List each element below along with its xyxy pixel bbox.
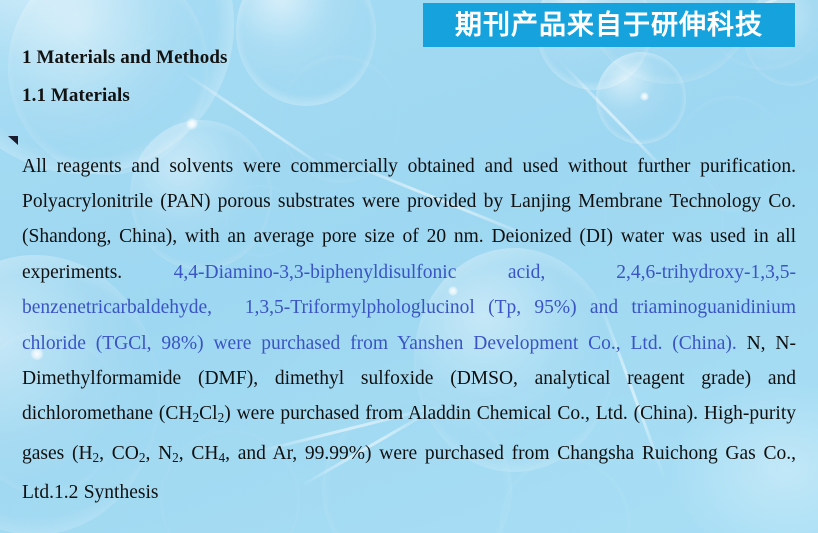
paragraph-run: Cl (199, 403, 217, 424)
watermark-banner: 期刊产品来自于研伸科技 (423, 3, 795, 47)
paragraph-run: 2 (172, 450, 179, 465)
triangle-bullet-icon (8, 136, 18, 145)
body-paragraph: All reagents and solvents were commercia… (22, 149, 796, 511)
slide-content: 1 Materials and Methods 1.1 Materials Al… (0, 0, 818, 533)
paragraph-run: , CO (99, 443, 139, 464)
slide-canvas: 期刊产品来自于研伸科技 1 Materials and Methods 1.1 … (0, 0, 818, 533)
paragraph-run: , CH (179, 443, 219, 464)
section-heading: 1 Materials and Methods (22, 47, 227, 69)
subsection-heading: 1.1 Materials (22, 85, 130, 107)
watermark-banner-text: 期刊产品来自于研伸科技 (455, 12, 763, 39)
paragraph-run: , N (145, 443, 172, 464)
